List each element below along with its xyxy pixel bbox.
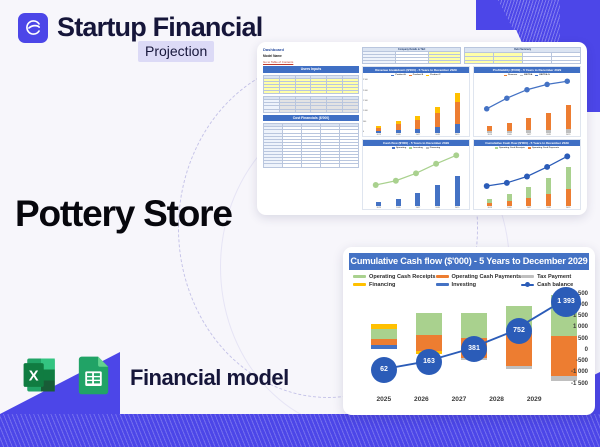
cumulative-cash-flow-card[interactable]: Cumulative Cash flow ($'000) - 5 Years t… xyxy=(343,247,595,415)
mini-chart-plot: 2025 2026 2027 2028 2029 xyxy=(474,77,580,136)
inputs-table xyxy=(263,75,359,95)
legend-swatch-line xyxy=(521,284,534,286)
brand-badge-projection: Projection xyxy=(138,41,214,62)
footer-label: Financial model xyxy=(130,365,289,391)
legend-item-operating-cash-receipts: Operating Cash Receipts xyxy=(353,274,436,280)
financials-table xyxy=(263,123,359,167)
bar xyxy=(396,121,401,133)
mini-chart-yaxis: 2 500 2 000 1 500 1 000 500 0 xyxy=(363,79,368,133)
bar xyxy=(487,199,492,206)
data-point-2025: 62 xyxy=(371,357,397,383)
mini-chart-plot: 2025 2026 2027 2028 2029 xyxy=(363,150,469,209)
mini-chart-bars xyxy=(369,79,467,133)
google-sheets-icon xyxy=(73,353,114,402)
table-row xyxy=(264,164,359,167)
legend-item: EBITDA xyxy=(520,74,532,76)
mini-chart-xaxis: 2025 2026 2027 2028 2029 xyxy=(369,134,467,136)
x-tick: 2027 xyxy=(452,396,467,403)
brand-title: Startup Financial xyxy=(57,12,262,43)
legend-item: EBITDA % xyxy=(535,74,550,76)
legend-item-investing: Investing xyxy=(436,282,522,288)
legend-item-tax-payment: Tax Payment xyxy=(521,274,587,280)
brand-header: Startup Financial xyxy=(18,12,262,43)
page-title: Pottery Store xyxy=(15,193,232,235)
price-table xyxy=(263,96,359,112)
data-point-2029: 1 393 xyxy=(551,287,581,317)
legend-item: Operating Cash Receipts xyxy=(495,147,525,149)
legend-item: Operating xyxy=(392,147,406,149)
mini-chart-cumulative-cash-flow[interactable]: Cumulative Cash flow ($'000) - 5 Years t… xyxy=(473,139,581,210)
sheet-title: Dashboard xyxy=(263,47,359,52)
legend-item: Operating Cash Payments xyxy=(528,147,559,149)
legend-item: Product C xyxy=(426,74,440,76)
y-tick: 500 xyxy=(555,336,588,342)
dashboard-left-column: Dashboard Model Name Go to Table of Cont… xyxy=(263,47,359,210)
legend-swatch xyxy=(521,275,534,279)
chart-legend: Operating Cash Receipts Operating Cash P… xyxy=(349,270,589,290)
bar xyxy=(455,93,460,133)
table-row xyxy=(264,91,359,94)
legend-swatch xyxy=(353,275,366,279)
data-point-2028: 752 xyxy=(506,318,532,344)
x-tick: 2028 xyxy=(489,396,504,403)
y-tick: 1 000 xyxy=(555,324,588,330)
chart-x-axis: 2025 2026 2027 2028 2029 xyxy=(365,396,553,403)
x-tick: 2025 xyxy=(376,396,391,403)
mini-chart-trend-line xyxy=(363,150,469,192)
sheet-toc-link[interactable]: Go to Table of Contents xyxy=(263,60,359,64)
section-header-users-inputs: Users Inputs xyxy=(263,66,359,73)
legend-item: Product B xyxy=(409,74,423,76)
table-row xyxy=(264,109,359,112)
data-point-2026: 163 xyxy=(416,349,442,375)
legend-swatch xyxy=(353,283,366,287)
bar xyxy=(415,116,420,133)
y-tick: -500 xyxy=(555,358,588,364)
debt-summary-table: Debt Summary xyxy=(464,47,581,64)
mini-chart-xaxis: 2025 2026 2027 2028 2029 xyxy=(480,207,578,209)
chart-plot-area: 62 163 381 752 1 393 2 500 2 000 1 500 1… xyxy=(349,291,589,403)
table-row xyxy=(363,61,461,64)
legend-item-operating-cash-payments: Operating Cash Payments xyxy=(436,274,522,280)
legend-item-financing: Financing xyxy=(353,282,436,288)
microsoft-excel-icon: X xyxy=(19,353,63,402)
svg-text:X: X xyxy=(29,369,39,385)
data-point-2027: 381 xyxy=(461,336,487,362)
bar xyxy=(415,193,420,206)
section-header-cost-financials: Cost Financials ($'000) xyxy=(263,115,359,122)
legend-item: Financing xyxy=(426,147,440,149)
bar xyxy=(507,123,512,133)
y-tick: 0 xyxy=(555,347,588,353)
company-details-table: Company Details & T&C xyxy=(362,47,461,64)
dashboard-right-column: Company Details & T&C Debt Summary Reven… xyxy=(362,47,581,210)
striped-bottom-band xyxy=(0,414,600,447)
bar xyxy=(396,199,401,206)
table-row xyxy=(465,60,581,64)
mini-chart-trend-line xyxy=(474,150,580,192)
chart-grid: 62 163 381 752 1 393 xyxy=(365,295,553,387)
bar xyxy=(526,118,531,133)
footer-formats-row: X Financial model xyxy=(19,353,289,402)
mini-chart-xaxis: 2025 2026 2027 2028 2029 xyxy=(480,134,578,136)
legend-item: Revenue xyxy=(504,74,517,76)
swirl-e-icon xyxy=(18,13,48,43)
bar xyxy=(435,107,440,133)
bar xyxy=(376,202,381,206)
chart-title: Cumulative Cash flow ($'000) - 5 Years t… xyxy=(349,253,589,270)
x-tick: 2029 xyxy=(527,396,542,403)
x-tick: 2026 xyxy=(414,396,429,403)
legend-item: Product A xyxy=(391,74,405,76)
y-tick: -1 000 xyxy=(555,369,588,375)
mini-chart-profitability[interactable]: Profitability ($'000) - 5 Years to Decem… xyxy=(473,66,581,137)
bar xyxy=(487,126,492,133)
mini-chart-cash-flow[interactable]: Cash flow ($'000) - 5 Years to December … xyxy=(362,139,470,210)
legend-swatch xyxy=(436,275,449,279)
mini-chart-revenue-breakdown[interactable]: Revenue breakdown ($'000) - 5 Years to D… xyxy=(362,66,470,137)
sheet-subtitle: Model Name xyxy=(263,54,359,58)
y-tick: -1 500 xyxy=(555,381,588,387)
mini-chart-plot: 2 500 2 000 1 500 1 000 500 0 xyxy=(363,77,469,136)
legend-item-cash-balance: Cash balance xyxy=(521,282,587,288)
dashboard-preview-card[interactable]: Dashboard Model Name Go to Table of Cont… xyxy=(257,42,587,215)
mini-chart-plot: 2025 2026 2027 2028 2029 xyxy=(474,150,580,209)
mini-chart-xaxis: 2025 2026 2027 2028 2029 xyxy=(369,207,467,209)
mini-chart-trend-line xyxy=(474,77,580,119)
bar xyxy=(507,194,512,206)
legend-item: Investing xyxy=(409,147,423,149)
legend-swatch xyxy=(436,283,449,287)
bar xyxy=(376,126,381,133)
